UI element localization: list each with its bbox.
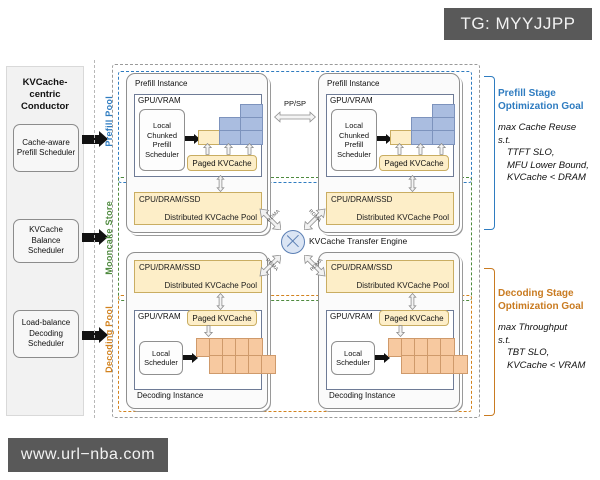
kvcache-transfer-engine-label: KVCache Transfer Engine <box>309 236 407 246</box>
cache-aware-prefill-scheduler[interactable]: Cache-aware Prefill Scheduler <box>13 124 79 172</box>
prefill-2-store-arrow-3 <box>437 143 446 155</box>
prefill-goal-constraint-0: TTFT SLO, <box>498 147 600 160</box>
prefill-instance-1-title: Prefill Instance <box>135 79 187 88</box>
decoding-1-local-scheduler[interactable]: Local Scheduler <box>139 341 183 375</box>
decoding-1-gpu-label: GPU/VRAM <box>138 312 181 321</box>
decoding-2-load-arrow <box>396 325 405 337</box>
decoding-2-dispatch-arrow <box>375 355 385 360</box>
load-balance-decoding-scheduler[interactable]: Load-balance Decoding Scheduler <box>13 310 79 358</box>
decoding-goal-heading: Decoding Stage Optimization Goal <box>498 288 600 313</box>
decoding-1-tok-b5 <box>261 355 276 374</box>
prefill-2-local-scheduler[interactable]: Local Chunked Prefill Scheduler <box>331 109 377 171</box>
decoding-goal-constraint-1: KVCache < VRAM <box>498 360 600 373</box>
decoding-optimization-goal: Decoding Stage Optimization Goal max Thr… <box>498 288 600 372</box>
kvcache-balance-scheduler[interactable]: KVCache Balance Scheduler <box>13 219 79 263</box>
decoding-goal-bracket <box>484 268 495 416</box>
vertical-divider <box>94 60 95 418</box>
prefill-instance-2-title: Prefill Instance <box>327 79 379 88</box>
decoding-2-mem-pool-label: Distributed KVCache Pool <box>357 281 450 290</box>
prefill-goal-constraint-2: KVCache < DRAM <box>498 172 600 185</box>
decoding-2-paged-kvcache: Paged KVCache <box>379 310 449 326</box>
prefill-2-store-arrow-2 <box>416 143 425 155</box>
prefill-1-vram-dram-link <box>216 175 225 192</box>
decoding-1-load-arrow <box>204 325 213 337</box>
prefill-1-mem-tier-label: CPU/DRAM/SSD <box>139 195 200 204</box>
decoding-2-mem-tier-label: CPU/DRAM/SSD <box>331 263 392 272</box>
prefill-1-store-arrow-2 <box>224 143 233 155</box>
prefill-goal-st: s.t. <box>498 135 511 146</box>
decoding-1-paged-kvcache: Paged KVCache <box>187 310 257 326</box>
prefill-instance-1[interactable]: Prefill Instance GPU/VRAM Local Chunked … <box>126 73 268 233</box>
decoding-goal-st: s.t. <box>498 335 511 346</box>
decoding-1-dram-vram-link <box>216 293 225 310</box>
arrow-decoding-scheduler-to-pool <box>82 331 100 340</box>
decoding-2-tok-b5 <box>453 355 468 374</box>
decoding-2-gpu-label: GPU/VRAM <box>330 312 373 321</box>
decoding-2-local-scheduler[interactable]: Local Scheduler <box>331 341 375 375</box>
ppsp-label: PP/SP <box>272 99 318 108</box>
bottom-watermark-badge: www.url−nba.com <box>8 438 168 472</box>
prefill-2-mem-tier-label: CPU/DRAM/SSD <box>331 195 392 204</box>
prefill-instance-2[interactable]: Prefill Instance GPU/VRAM Local Chunked … <box>318 73 460 233</box>
prefill-1-dispatch-arrow <box>185 136 195 141</box>
prefill-1-store-arrow-1 <box>203 143 212 155</box>
prefill-2-gpu-label: GPU/VRAM <box>330 96 373 105</box>
prefill-goal-bracket <box>484 76 495 230</box>
decoding-2-memory-tier: CPU/DRAM/SSD Distributed KVCache Pool <box>326 260 454 293</box>
arrow-prefill-scheduler-to-pool <box>82 135 100 144</box>
prefill-1-store-arrow-3 <box>245 143 254 155</box>
prefill-1-memory-tier: CPU/DRAM/SSD Distributed KVCache Pool <box>134 192 262 225</box>
prefill-1-local-scheduler[interactable]: Local Chunked Prefill Scheduler <box>139 109 185 171</box>
prefill-2-paged-kvcache: Paged KVCache <box>379 155 449 171</box>
decoding-1-dispatch-arrow <box>183 355 193 360</box>
decoding-2-dram-vram-link <box>408 293 417 310</box>
diagram-canvas: TG: MYYJJPP www.url−nba.com KVCache-cent… <box>0 0 600 480</box>
decoding-instance-2-title: Decoding Instance <box>329 391 395 400</box>
top-watermark-badge: TG: MYYJJPP <box>444 8 592 40</box>
prefill-1-mem-pool-label: Distributed KVCache Pool <box>165 213 258 222</box>
kvcache-transfer-engine-node[interactable] <box>281 230 305 254</box>
prefill-goal-objective: max Cache Reuse <box>498 122 576 133</box>
prefill-1-gpu-label: GPU/VRAM <box>138 96 181 105</box>
decoding-instance-2[interactable]: CPU/DRAM/SSD Distributed KVCache Pool GP… <box>318 252 460 409</box>
arrow-balance-scheduler-to-store <box>82 233 100 242</box>
prefill-2-dispatch-arrow <box>377 136 387 141</box>
prefill-1-paged-kvcache: Paged KVCache <box>187 155 257 171</box>
prefill-optimization-goal: Prefill Stage Optimization Goal max Cach… <box>498 88 600 185</box>
decoding-1-mem-pool-label: Distributed KVCache Pool <box>165 281 258 290</box>
prefill-goal-heading: Prefill Stage Optimization Goal <box>498 88 600 113</box>
ppsp-bidirectional-arrow <box>274 110 316 128</box>
decoding-goal-objective: max Throughput <box>498 322 567 333</box>
decoding-goal-body: max Throughput s.t. TBT SLO, KVCache < V… <box>498 322 600 372</box>
decoding-1-memory-tier: CPU/DRAM/SSD Distributed KVCache Pool <box>134 260 262 293</box>
prefill-2-vram-dram-link <box>408 175 417 192</box>
conductor-title: KVCache-centric Conductor <box>7 77 83 113</box>
prefill-2-memory-tier: CPU/DRAM/SSD Distributed KVCache Pool <box>326 192 454 225</box>
prefill-2-store-arrow-1 <box>395 143 404 155</box>
decoding-instance-1-title: Decoding Instance <box>137 391 203 400</box>
prefill-goal-body: max Cache Reuse s.t. TTFT SLO, MFU Lower… <box>498 122 600 185</box>
kvcache-centric-conductor-panel: KVCache-centric Conductor Cache-aware Pr… <box>6 66 84 416</box>
prefill-goal-constraint-1: MFU Lower Bound, <box>498 160 600 173</box>
decoding-goal-constraint-0: TBT SLO, <box>498 347 600 360</box>
decoding-instance-1[interactable]: CPU/DRAM/SSD Distributed KVCache Pool GP… <box>126 252 268 409</box>
prefill-2-mem-pool-label: Distributed KVCache Pool <box>357 213 450 222</box>
decoding-1-mem-tier-label: CPU/DRAM/SSD <box>139 263 200 272</box>
